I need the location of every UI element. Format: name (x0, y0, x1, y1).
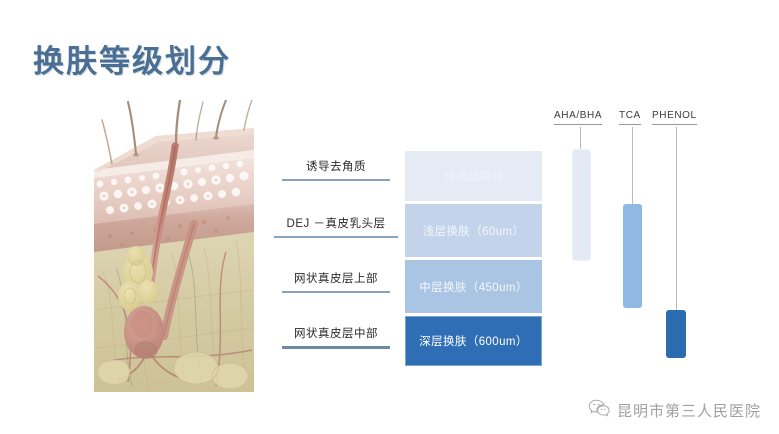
layer-label-induced-exfoliation: 诱导去角质 (282, 158, 390, 181)
depth-bar-superficial: 浅层换肤（60um） (405, 204, 542, 257)
page-title: 换肤等级划分 (33, 36, 231, 81)
watermark-text: 昆明市第三人民医院 (617, 400, 761, 421)
agent-connector-line (676, 127, 677, 310)
depth-bar-label: 浅层换肤（60um） (423, 223, 525, 239)
layer-label-text: DEJ －真皮乳头层 (274, 215, 398, 236)
depth-bar-label: 深层换肤（600um） (419, 333, 528, 349)
skin-cross-section-figure (76, 100, 254, 395)
layer-label-upper-reticular-dermis: 网状真皮层上部 (282, 270, 390, 293)
agent-label-phenol: PHENOL (652, 110, 697, 125)
depth-bar-very-superficial: 极浅层换肤 (405, 151, 542, 201)
agent-label-aha-bha: AHA/BHA (554, 110, 602, 125)
layer-label-rule (274, 236, 398, 238)
layer-label-text: 网状真皮层中部 (282, 325, 390, 346)
depth-bar-label: 中层换肤（450um） (419, 279, 528, 295)
layer-label-rule (282, 346, 390, 349)
wechat-logo-icon (588, 399, 610, 422)
peel-depth-stack: 极浅层换肤 浅层换肤（60um） 中层换肤（450um） 深层换肤（600um） (405, 151, 542, 366)
depth-bar-medium: 中层换肤（450um） (405, 260, 542, 313)
depth-bar-label: 极浅层换肤 (444, 168, 504, 184)
layer-label-rule (282, 179, 390, 181)
layer-label-dej-papillary-dermis: DEJ －真皮乳头层 (274, 215, 398, 238)
layer-label-mid-reticular-dermis: 网状真皮层中部 (282, 325, 390, 349)
layer-label-text: 诱导去角质 (282, 158, 390, 179)
agent-label-tca: TCA (619, 110, 641, 125)
depth-bar-deep: 深层换肤（600um） (405, 316, 542, 366)
slide-canvas: 换肤等级划分 (0, 0, 779, 434)
layer-label-text: 网状真皮层上部 (282, 270, 390, 291)
layer-label-rule (282, 291, 390, 293)
watermark: 昆明市第三人民医院 (588, 399, 761, 422)
agent-connector-line (580, 127, 581, 151)
agent-connector-line (632, 127, 633, 204)
agent-depth-bar-tca (623, 204, 642, 308)
agent-depth-bar-aha-bha (572, 149, 591, 261)
agent-depth-bar-phenol (666, 310, 686, 358)
